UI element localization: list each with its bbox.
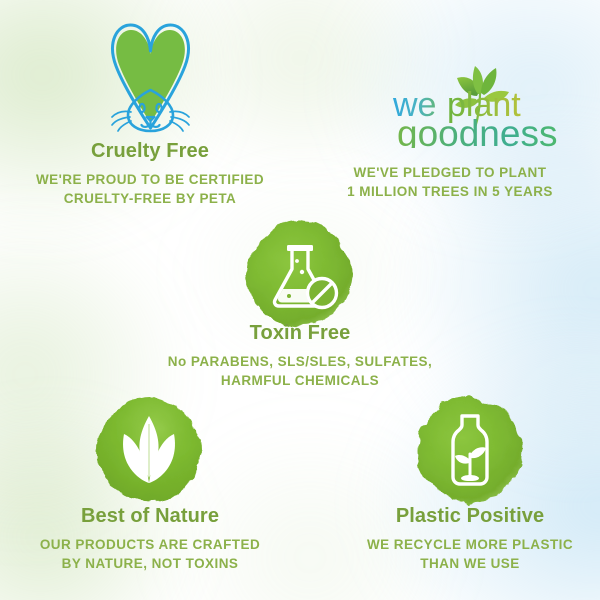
badge-toxin-free-heading: Toxin Free (150, 322, 450, 344)
badge-we-plant-goodness-subtext: WE'VE PLEDGED TO PLANT 1 MILLION TREES I… (300, 164, 600, 201)
badge-cruelty-free-subtext: WE'RE PROUD TO BE CERTIFIED CRUELTY-FREE… (0, 171, 300, 208)
flask-bubble-3 (287, 294, 291, 298)
badge-cruelty-free-text: Cruelty Free WE'RE PROUD TO BE CERTIFIED… (0, 140, 300, 208)
logo-word-goodness: goodness (397, 113, 557, 148)
badge-plastic-positive-subtext: WE RECYCLE MORE PLASTIC THAN WE USE (320, 536, 600, 573)
badge-cruelty-free-heading: Cruelty Free (0, 140, 300, 162)
bottle-with-sprout-icon (412, 392, 528, 508)
badge-plastic-positive-icon (412, 392, 528, 508)
flask-no-toxins-icon (242, 216, 358, 332)
flask-bubble-2 (300, 270, 304, 274)
flask-bubble-1 (295, 259, 299, 263)
badge-best-of-nature-heading: Best of Nature (0, 505, 300, 527)
we-plant-goodness-svg: we plant goodness (385, 58, 570, 148)
badge-best-of-nature-subtext: OUR PRODUCTS ARE CRAFTED BY NATURE, NOT … (0, 536, 300, 573)
badge-best-of-nature-text: Best of Nature OUR PRODUCTS ARE CRAFTED … (0, 505, 300, 573)
peta-bunny-icon (98, 18, 203, 136)
three-leaves-icon (91, 392, 207, 508)
badge-toxin-free-icon (242, 216, 358, 332)
sprout-leaf-right (470, 447, 486, 458)
peta-bunny-svg (98, 18, 203, 136)
badge-best-of-nature-icon (91, 392, 207, 508)
sprout-soil (461, 475, 479, 481)
badge-toxin-free-text: Toxin Free No PARABENS, SLS/SLES, SULFAT… (150, 322, 450, 390)
badge-toxin-free-subtext: No PARABENS, SLS/SLES, SULFATES, HARMFUL… (150, 353, 450, 390)
badge-we-plant-goodness-text: WE'VE PLEDGED TO PLANT 1 MILLION TREES I… (300, 164, 600, 201)
badge-plastic-positive-heading: Plastic Positive (320, 505, 600, 527)
badge-plastic-positive-text: Plastic Positive WE RECYCLE MORE PLASTIC… (320, 505, 600, 573)
sprout-leaf-left (455, 455, 470, 464)
promise-badges-poster: Cruelty Free WE'RE PROUD TO BE CERTIFIED… (0, 0, 600, 600)
we-plant-goodness-logo: we plant goodness (385, 58, 570, 148)
